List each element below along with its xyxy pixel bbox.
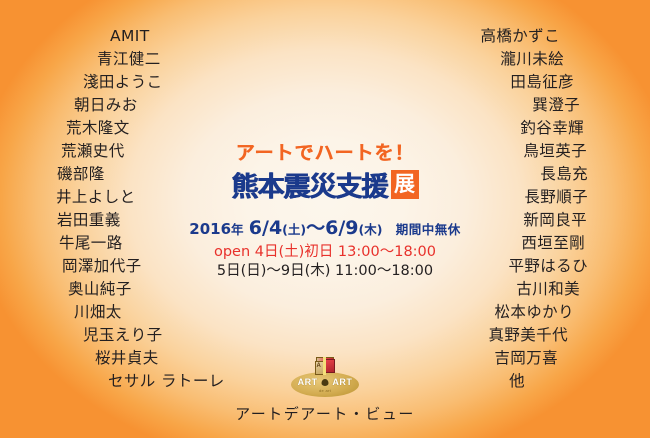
- artist-name: 瀧川未絵: [500, 51, 564, 68]
- artist-name: 朝日みお: [74, 97, 138, 114]
- date-note: 期間中無休: [396, 222, 461, 237]
- artist-name: 平野はるひ: [508, 258, 588, 275]
- artist-name: 釣谷幸輝: [520, 120, 584, 137]
- artist-name: 巽澄子: [532, 97, 580, 114]
- gallery-logo: A ART ART de art: [185, 357, 465, 403]
- artist-name: 荒木隆文: [66, 120, 130, 137]
- artist-name: 高橋かずこ: [480, 28, 560, 45]
- artist-name: 桜井貞夫: [95, 350, 159, 367]
- logo-box-letter: A: [317, 363, 321, 369]
- headline-main-title: 熊本震災支援: [232, 165, 388, 204]
- headline-subtitle: アートでハートを！: [185, 138, 465, 165]
- date-year-unit: 年: [231, 222, 244, 237]
- date-start: 6/4: [249, 217, 282, 239]
- artist-name: 淺田ようこ: [83, 74, 163, 91]
- date-end: 6/9: [325, 217, 358, 239]
- poster-canvas: AMIT青江健二淺田ようこ朝日みお荒木隆文荒瀬史代磯部隆井上よしと岩田重義牛尾一…: [0, 0, 650, 438]
- exhibition-date-line: 2016年 6/4(土)〜6/9(木) 期間中無休: [180, 213, 470, 240]
- artist-name: 鳥垣英子: [523, 143, 587, 160]
- date-start-weekday: (土): [282, 222, 306, 237]
- artist-name: 岩田重義: [57, 212, 121, 229]
- artist-name: 荒瀬史代: [61, 143, 125, 160]
- artist-name: 長島充: [540, 166, 588, 183]
- logo-word-left: ART: [298, 377, 318, 387]
- artist-name: 井上よしと: [56, 189, 136, 206]
- artist-name: 牛尾一路: [59, 235, 123, 252]
- logo-subtext: de art: [319, 388, 331, 393]
- gift-box-ribbon: [323, 357, 326, 375]
- headline-main-row: 熊本震災支援 展: [185, 165, 465, 204]
- artist-name: 他: [509, 373, 525, 390]
- logo-word-right: ART: [332, 377, 352, 387]
- artist-name: 西垣至剛: [521, 235, 585, 252]
- artist-name: 古川和美: [516, 281, 580, 298]
- artist-name: 岡澤加代子: [62, 258, 142, 275]
- artist-name: 田島征彦: [510, 74, 574, 91]
- headline-badge: 展: [391, 170, 419, 199]
- heart-icon: [322, 379, 329, 386]
- date-year: 2016: [189, 220, 231, 238]
- organizer-name: アートデアート・ビュー: [170, 403, 480, 424]
- artist-name: AMIT: [110, 28, 150, 45]
- opening-hours-line-1: open 4日(土)初日 13:00〜18:00: [185, 243, 465, 262]
- gift-box-right-face: [324, 359, 335, 373]
- center-content: アートでハートを！ 熊本震災支援 展 2016年 6/4(土)〜6/9(木) 期…: [185, 0, 465, 438]
- artist-name: 奥山純子: [68, 281, 132, 298]
- date-range-tilde: 〜: [306, 217, 325, 239]
- artist-name: 新岡良平: [523, 212, 587, 229]
- artist-name: 磯部隆: [57, 166, 105, 183]
- artist-name: 川畑太: [74, 304, 122, 321]
- date-end-weekday: (木): [359, 222, 383, 237]
- artist-name: 真野美千代: [488, 327, 568, 344]
- artist-name: 児玉えり子: [83, 327, 163, 344]
- artist-name: 松本ゆかり: [494, 304, 574, 321]
- artist-name: 青江健二: [97, 51, 161, 68]
- artist-name: 吉岡万喜: [494, 350, 558, 367]
- artist-name: 長野順子: [524, 189, 588, 206]
- opening-hours: open 4日(土)初日 13:00〜18:00 5日(日)〜9日(木) 11:…: [185, 243, 465, 281]
- gift-box-icon: A: [315, 357, 335, 376]
- opening-hours-line-2: 5日(日)〜9日(木) 11:00〜18:00: [185, 262, 465, 281]
